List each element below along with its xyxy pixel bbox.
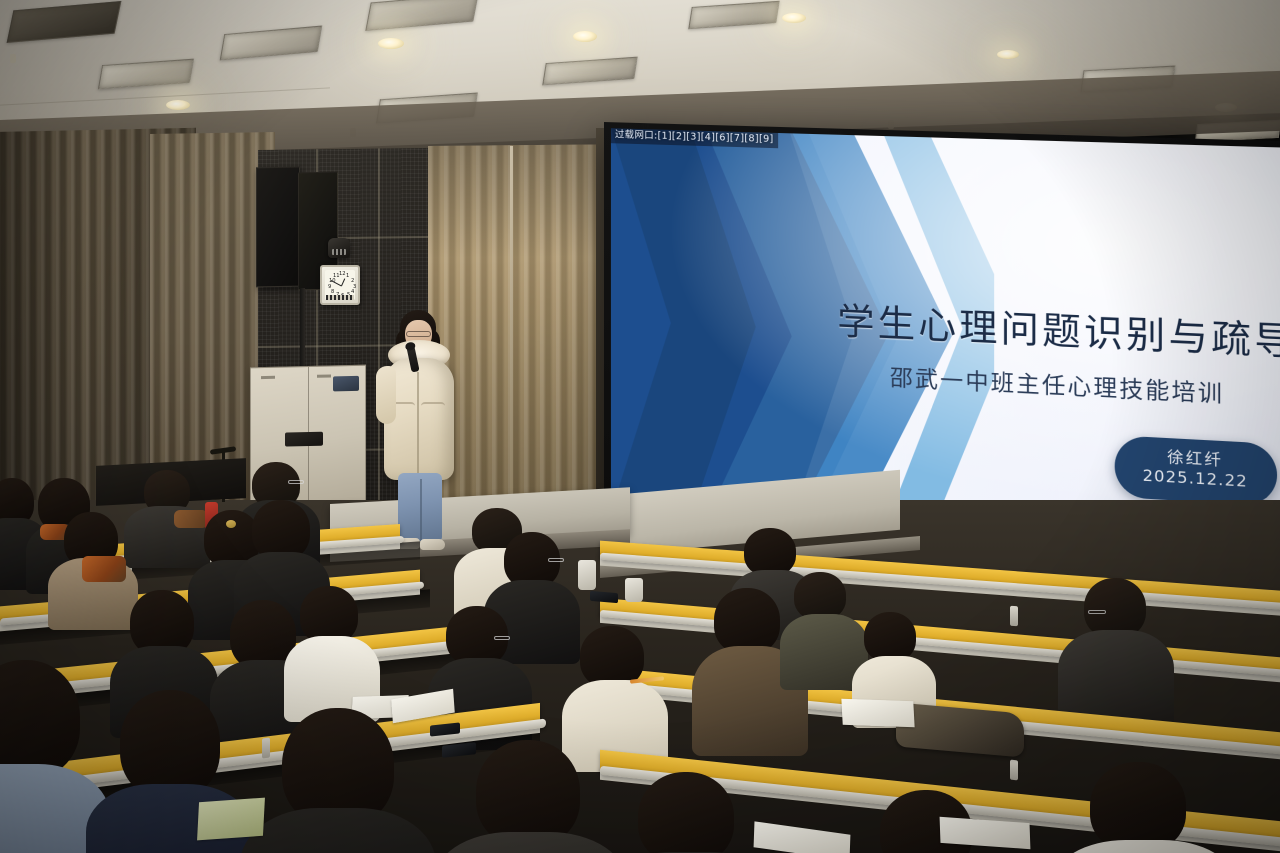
sprinkler-head <box>10 54 16 63</box>
paper-sheet <box>841 699 914 728</box>
person-head <box>1084 578 1146 638</box>
rail-post <box>1010 760 1018 781</box>
presenter-shoe <box>420 539 445 550</box>
glasses-icon <box>1088 610 1106 614</box>
person-head <box>714 588 780 654</box>
person-head <box>120 690 220 798</box>
person-head <box>476 740 580 846</box>
person-head <box>744 528 796 576</box>
wall-camera-icon <box>328 238 350 258</box>
person-head <box>638 772 734 853</box>
glasses-icon <box>406 331 431 337</box>
presenter-badge: 徐红纤 2025.12.22 <box>1114 436 1276 506</box>
coat-pocket <box>421 402 445 417</box>
wall-loudspeaker <box>256 167 300 288</box>
presenter-jeans <box>398 473 442 541</box>
person-head <box>252 500 310 560</box>
lecture-hall-photo: 12 1 2 3 4 5 6 7 8 9 10 11 <box>0 0 1280 853</box>
notebook <box>197 798 265 841</box>
glasses-icon <box>548 558 564 562</box>
ceiling-downlight <box>782 13 806 23</box>
water-bottle <box>625 578 643 602</box>
person-head <box>1090 762 1186 852</box>
glasses-icon <box>494 636 510 640</box>
presenter-person <box>378 310 458 558</box>
water-bottle <box>578 560 596 590</box>
ceiling-downlight <box>997 50 1019 59</box>
wall-clock: 12 1 2 3 4 5 6 7 8 9 10 11 <box>320 265 360 305</box>
slide-title: 学生心理问题识别与疏导 <box>837 291 1280 365</box>
rail-post <box>262 738 270 759</box>
ceiling-downlight <box>166 100 190 110</box>
orange-scarf <box>82 556 126 582</box>
person-head <box>794 572 846 620</box>
presenter-arm <box>376 366 396 424</box>
loudspeaker-mount <box>300 288 305 368</box>
plaid-scarf <box>174 510 208 528</box>
glasses-icon <box>288 480 304 484</box>
person-head <box>864 612 916 662</box>
rail-post <box>1010 606 1018 627</box>
curtain-divider <box>510 146 513 518</box>
ceiling-downlight <box>573 31 597 42</box>
ceiling-downlight <box>378 38 404 49</box>
hair-clip <box>226 520 236 528</box>
